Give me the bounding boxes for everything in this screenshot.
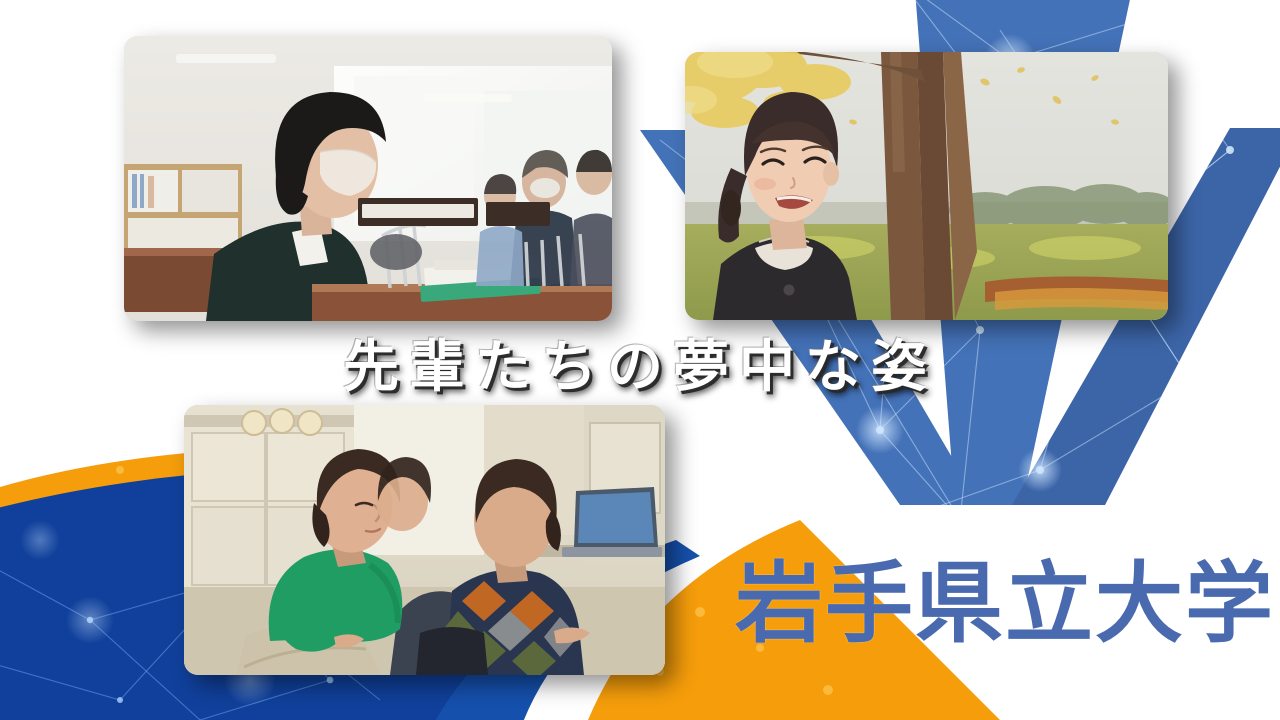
laptop: [562, 487, 662, 557]
thumbnail-autumn-interview[interactable]: [685, 52, 1168, 320]
thumbnail-classroom-pair[interactable]: [184, 405, 665, 675]
thumbnail-meeting-room-image: [124, 36, 612, 321]
university-logotype: 岩手県立大学: [735, 533, 1275, 660]
thumbnail-meeting-room[interactable]: [124, 36, 612, 321]
thumbnail-classroom-pair-image: [184, 405, 665, 675]
thumbnail-autumn-interview-image: [685, 52, 1168, 320]
video-frame: 先輩たちの夢中な姿 岩手県立大学: [0, 0, 1280, 720]
